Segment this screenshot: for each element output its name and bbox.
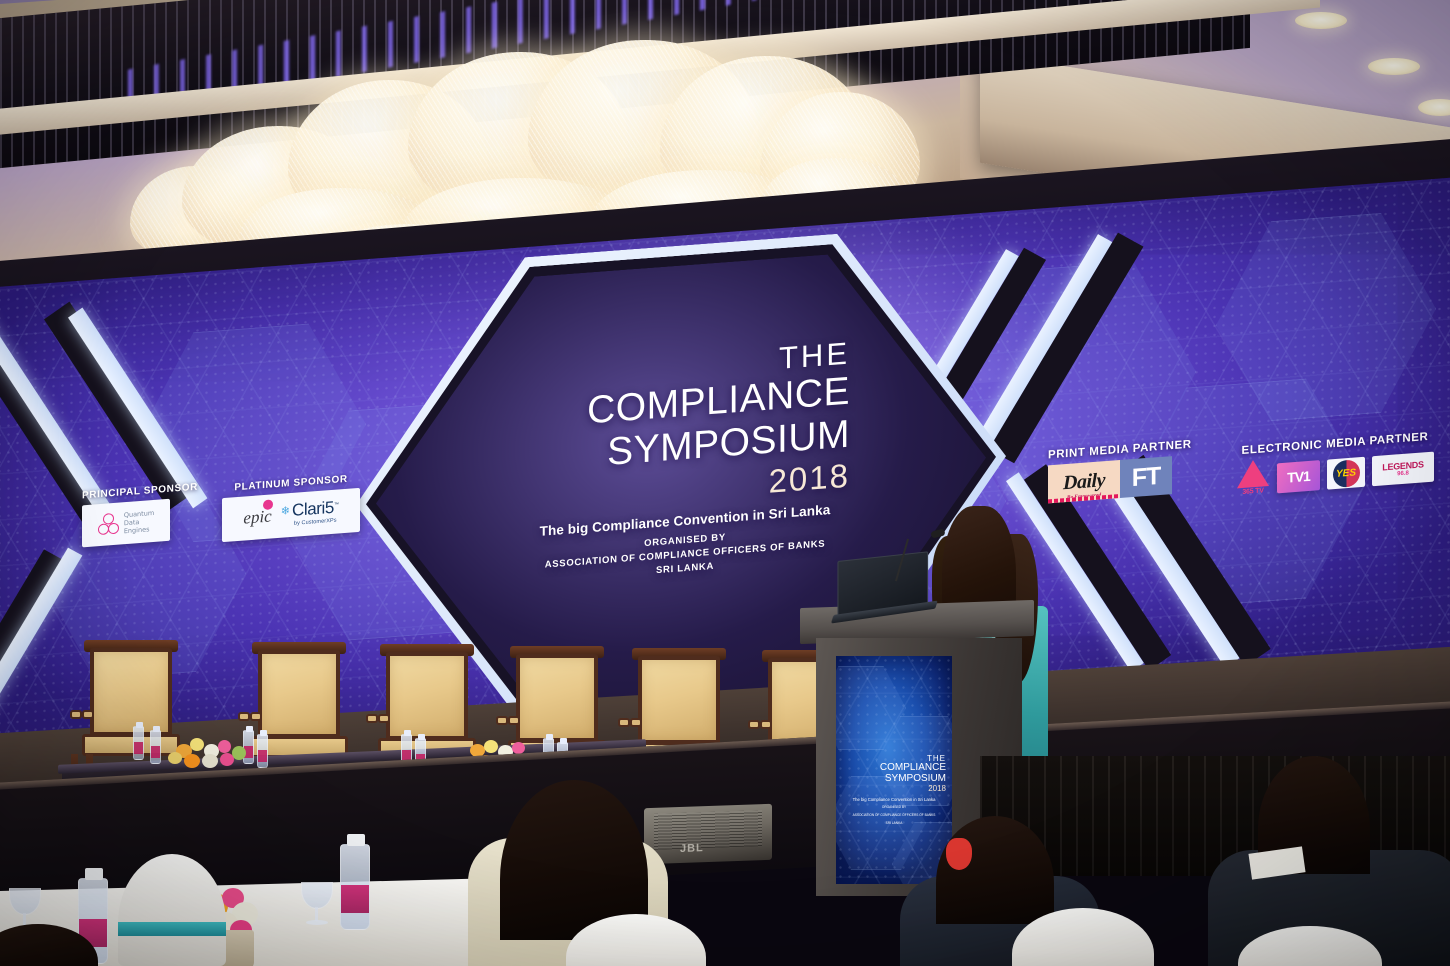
quantum-data-engines-logo: Quantum Data Engines — [82, 499, 170, 548]
downlight-icon — [1295, 12, 1347, 29]
tv1-label: TV1 — [1287, 468, 1310, 486]
tv1-logo: TV1 — [1277, 460, 1320, 493]
triangle-icon — [1237, 459, 1269, 488]
365-tv-logo: 365 TV — [1236, 459, 1270, 497]
presenter-laptop — [837, 551, 928, 616]
print-media-partner-group: PRINT MEDIA PARTNER Daily Be Empowered F… — [1048, 439, 1192, 504]
daily-ft-word-ft: FT — [1132, 461, 1161, 492]
daily-ft-word-daily: Daily — [1063, 469, 1105, 495]
clari5-wordmark: Clari5 — [292, 498, 334, 520]
chair-sash — [118, 922, 226, 936]
foreground-audience — [0, 756, 1450, 966]
wine-glass — [298, 882, 336, 930]
principal-sponsor-group: PRINCIPAL SPONSOR Quantum Data Engines — [82, 482, 198, 548]
yes-circle-icon: YES — [1333, 459, 1360, 488]
qde-line-3: Engines — [124, 525, 154, 536]
yes-fm-logo: YES — [1327, 457, 1365, 490]
yes-label: YES — [1336, 467, 1356, 480]
epic-wordmark: epic — [243, 507, 271, 528]
epic-logo: epic — [243, 509, 271, 526]
water-bottle — [133, 726, 144, 760]
audience-member-head — [936, 816, 1054, 924]
legends-frequency: 96.8 — [1397, 470, 1409, 477]
downlight-icon — [1368, 58, 1420, 75]
snowflake-icon: ❄ — [281, 507, 290, 519]
clari5-tm: ™ — [334, 502, 339, 508]
quantum-data-engines-mark-icon — [98, 513, 120, 537]
hair-clip-icon — [946, 838, 972, 870]
event-title-block: THE COMPLIANCE SYMPOSIUM 2018 The big Co… — [520, 338, 850, 589]
legends-logo: LEGENDS 96.8 — [1372, 452, 1434, 487]
platinum-sponsor-group: PLATINUM SPONSOR epic ❄ Clari5™ by Custo… — [222, 473, 360, 542]
banquet-chair-cover — [118, 854, 226, 966]
conference-hall-scene: THE COMPLIANCE SYMPOSIUM 2018 The big Co… — [0, 0, 1450, 966]
water-bottle — [340, 844, 370, 930]
clari5-logo: ❄ Clari5™ by CustomerXPs — [281, 500, 339, 527]
